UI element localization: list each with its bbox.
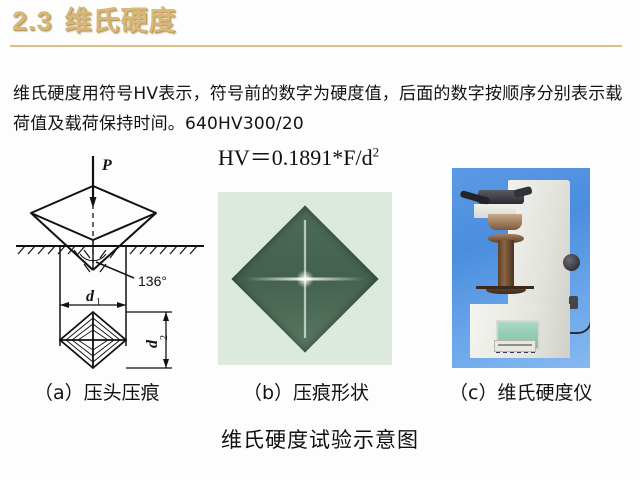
title-divider bbox=[10, 45, 622, 47]
label-diagonal-1: d bbox=[86, 288, 95, 305]
figure-caption-b: （b）压痕形状 bbox=[243, 378, 369, 405]
page-title-text: 维氏硬度 bbox=[65, 6, 177, 36]
body-paragraph: 维氏硬度用符号HV表示，符号前的数字为硬度值，后面的数字按顺序分别表示载荷值及载… bbox=[13, 79, 627, 139]
figure-row: P 136° d 1 d 2 bbox=[0, 150, 640, 380]
surface-hatching bbox=[18, 246, 197, 272]
indentation-center-highlight bbox=[296, 270, 314, 288]
figure-caption-c: （c）维氏硬度仪 bbox=[449, 378, 592, 405]
figure-title: 维氏硬度试验示意图 bbox=[0, 424, 640, 454]
page-title: 2.3维氏硬度 bbox=[12, 6, 177, 37]
tester-indenter-turret bbox=[488, 214, 522, 230]
label-diagonal-1-sub: 1 bbox=[96, 297, 101, 308]
tester-printer-slot bbox=[494, 340, 536, 352]
vickers-tester-photo bbox=[452, 168, 590, 368]
indentation-micrograph-photo bbox=[218, 192, 392, 365]
tester-base-console bbox=[470, 304, 570, 358]
figure-caption-a: （a）压头压痕 bbox=[34, 378, 160, 405]
tester-elevating-screw bbox=[498, 240, 514, 290]
label-load: P bbox=[101, 157, 112, 174]
tester-load-selector-knob bbox=[563, 254, 580, 271]
tester-elevating-handle bbox=[476, 286, 534, 289]
page-title-number: 2.3 bbox=[12, 6, 53, 36]
label-diagonal-2-sub: 2 bbox=[159, 335, 170, 340]
label-angle: 136° bbox=[138, 273, 167, 289]
indenter-schematic-svg: P 136° d 1 d 2 bbox=[14, 150, 206, 372]
indenter-schematic-diagram: P 136° d 1 d 2 bbox=[14, 150, 206, 372]
